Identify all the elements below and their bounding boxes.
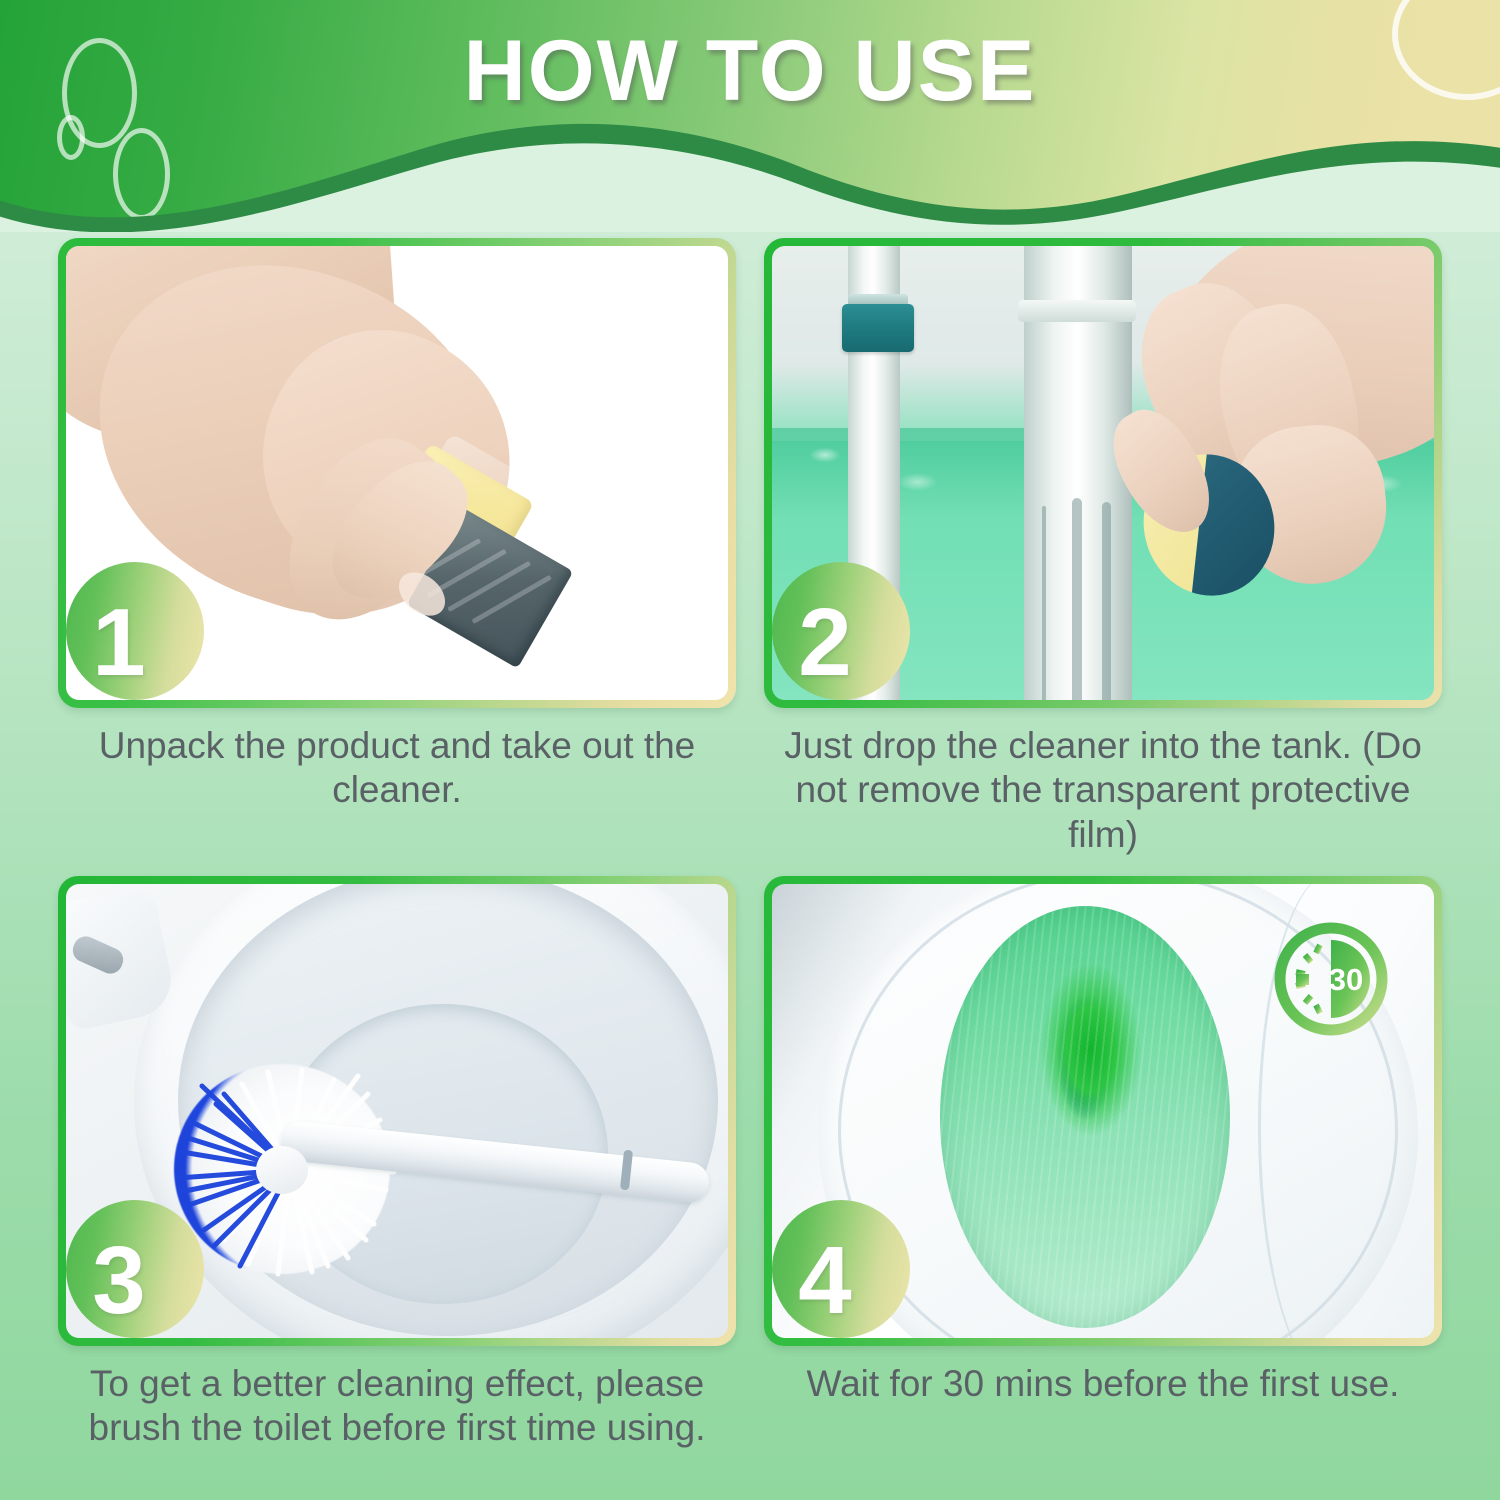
step-2-photo-frame: 2 xyxy=(764,238,1442,708)
step-3-photo-frame: 3 xyxy=(58,876,736,1346)
step-3-number-badge: 3 xyxy=(66,1200,204,1338)
timer-30-min-icon: 30 xyxy=(1272,920,1390,1038)
tank-slit-1 xyxy=(1042,506,1046,700)
step-card-1[interactable]: 1 Unpack the product and take out the cl… xyxy=(58,238,736,858)
step-4-photo: 30 4 xyxy=(772,884,1434,1338)
step-1-photo-frame: 1 xyxy=(58,238,736,708)
step-4-number-badge: 4 xyxy=(772,1200,910,1338)
water-ripple-texture xyxy=(940,906,1230,1328)
toilet-brush-hub xyxy=(256,1146,308,1194)
step-2-number-badge: 2 xyxy=(772,562,910,700)
page-header: HOW TO USE xyxy=(0,0,1500,232)
step-2-number: 2 xyxy=(798,595,851,691)
step-card-2[interactable]: 2 Just drop the cleaner into the tank. (… xyxy=(764,238,1442,858)
tank-tube-cap xyxy=(1018,300,1136,322)
header-wave-foreground xyxy=(0,114,1500,232)
step-3-number: 3 xyxy=(92,1233,145,1329)
step-4-number: 4 xyxy=(798,1233,851,1329)
step-4-caption: Wait for 30 mins before the first use. xyxy=(764,1362,1442,1406)
step-3-caption: To get a better cleaning effect, please … xyxy=(58,1362,736,1451)
tank-valve-teal-cap xyxy=(842,304,914,352)
step-4-photo-frame: 30 4 xyxy=(764,876,1442,1346)
tank-slit-3 xyxy=(1102,502,1111,700)
step-1-caption: Unpack the product and take out the clea… xyxy=(58,724,736,813)
step-3-photo: 3 xyxy=(66,884,728,1338)
steps-grid: 1 Unpack the product and take out the cl… xyxy=(0,238,1500,1500)
timer-value: 30 xyxy=(1329,962,1363,997)
tank-slit-2 xyxy=(1072,498,1082,700)
step-1-number-badge: 1 xyxy=(66,562,204,700)
step-card-4[interactable]: 30 4 Wait for 30 mins before the first u… xyxy=(764,876,1442,1496)
step-2-photo: 2 xyxy=(772,246,1434,700)
step-card-3[interactable]: 3 To get a better cleaning effect, pleas… xyxy=(58,876,736,1496)
step-1-number: 1 xyxy=(92,595,145,691)
step-1-photo: 1 xyxy=(66,246,728,700)
step-2-caption: Just drop the cleaner into the tank. (Do… xyxy=(764,724,1442,857)
